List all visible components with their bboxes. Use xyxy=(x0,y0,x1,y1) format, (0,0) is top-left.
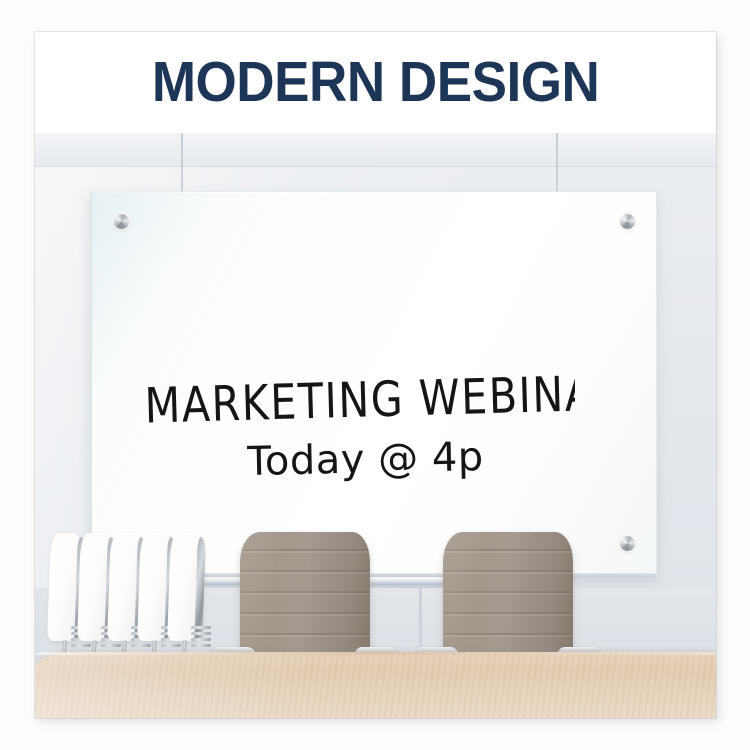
glass-dry-erase-board: MARKETING WEBINAR Today @ 4pm xyxy=(90,191,657,574)
chair-upholstered-back xyxy=(240,532,370,652)
product-image-card: MODERN DESIGN MARKETING WEBINAR xyxy=(35,32,716,718)
handwriting-line-1: MARKETING WEBINAR xyxy=(145,373,575,433)
wall-trim-line xyxy=(35,166,716,167)
wall-upper-band xyxy=(35,133,716,166)
handwriting-line-2: Today @ 4pm xyxy=(247,435,487,487)
board-handwriting: MARKETING WEBINAR Today @ 4pm xyxy=(92,192,656,574)
svg-text:Today @ 4pm: Today @ 4pm xyxy=(247,435,487,485)
table-front-edge xyxy=(35,652,716,655)
headline-text: MODERN DESIGN xyxy=(152,54,600,111)
headline-banner: MODERN DESIGN xyxy=(35,32,716,133)
svg-text:MARKETING WEBINAR: MARKETING WEBINAR xyxy=(145,373,575,433)
stacking-chair-5 xyxy=(169,533,215,658)
product-photo: MARKETING WEBINAR Today @ 4pm xyxy=(35,133,716,718)
conference-table xyxy=(35,652,716,718)
chair-upholstered-back xyxy=(443,532,573,652)
chair-slats xyxy=(191,626,211,652)
product-image-canvas: MODERN DESIGN MARKETING WEBINAR xyxy=(0,0,750,750)
